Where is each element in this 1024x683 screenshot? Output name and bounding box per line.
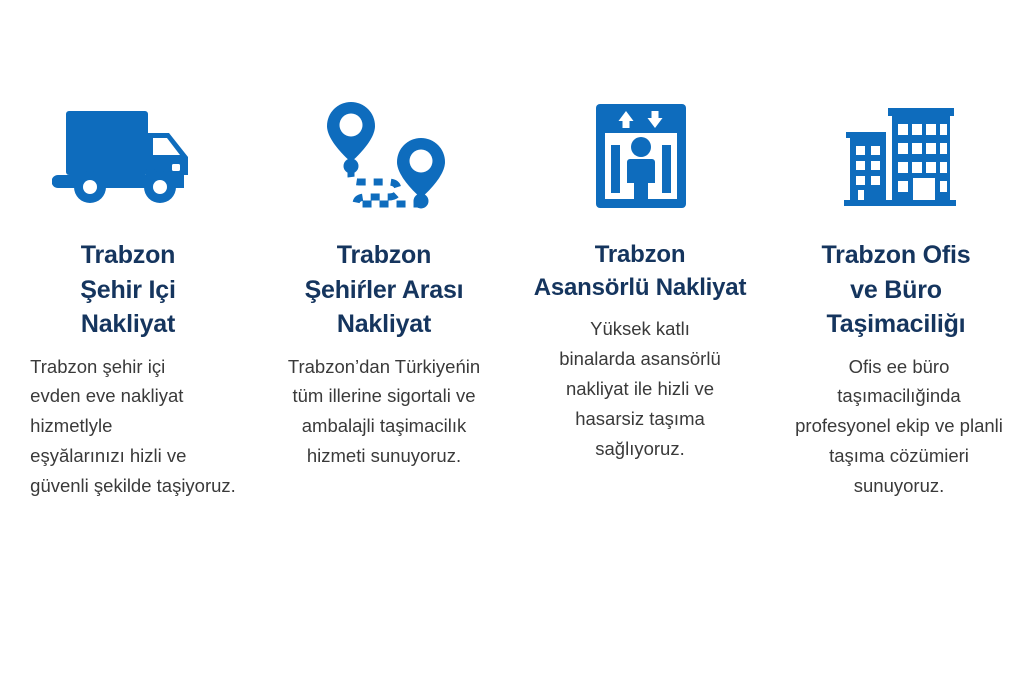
card-description-line: güvenli şekilde taşiyoruz. — [30, 475, 236, 496]
card-description: Ofis ee büro taşımacilığinda profesyonel… — [789, 352, 1003, 502]
card-description-line: Trabzon şehir içi — [30, 356, 165, 377]
card-title-line: Trabzon Ofis — [821, 241, 970, 269]
card-description-line: nakliyat ile hizli ve — [566, 378, 714, 399]
card-title-line: ve Büro — [850, 276, 942, 304]
card-title-line: Trabzon — [81, 241, 175, 269]
card-title: Trabzon Şehiŕler Arası Nakliyat — [301, 238, 468, 342]
card-description-line: Ofis ee büro — [849, 356, 950, 377]
service-card-asansorlu[interactable]: Trabzon Asansörlü Nakliyat Yüksek katlı … — [512, 96, 768, 464]
card-title-line: Trabzon — [595, 241, 686, 268]
card-description-line: profesyonel ekip ve planli — [795, 415, 1003, 436]
card-title-line: Asansörlü Nakliyat — [534, 274, 746, 301]
card-description-line: eşyălarınızı hizli ve — [30, 445, 186, 466]
card-description-line: taşımacilığinda — [837, 385, 960, 406]
card-description-line: hasarsiz taşıma — [575, 408, 705, 429]
card-description-line: hizmeti sunuyoruz. — [307, 445, 461, 466]
card-title-line: Nakliyat — [337, 310, 431, 338]
service-card-sehir-ici[interactable]: Trabzon Şehir Içi Nakliyat Trabzon şehir… — [0, 96, 256, 501]
card-description-line: taşıma cözümieri — [829, 445, 969, 466]
card-title: Trabzon Ofis ve Büro Taşimaciliğı — [817, 238, 974, 342]
card-description-line: evden eve nakliyat — [30, 385, 183, 406]
card-title: Trabzon Şehir Içi Nakliyat — [76, 238, 179, 342]
card-description-line: hizmetlyle — [30, 415, 112, 436]
card-title-line: Şehiŕler Arası — [305, 276, 464, 304]
card-title-line: Şehir Içi — [80, 276, 175, 304]
services-row: Trabzon Şehir Içi Nakliyat Trabzon şehir… — [0, 96, 1024, 501]
elevator-sign-icon — [593, 96, 689, 216]
service-card-sehirler-arasi[interactable]: Trabzon Şehiŕler Arası Nakliyat Trabzon’… — [256, 96, 512, 471]
card-title-line: Taşimaciliğı — [827, 310, 966, 338]
card-title-line: Nakliyat — [81, 310, 175, 338]
card-description-line: binalarda asansörlü — [559, 348, 720, 369]
moving-truck-icon — [52, 96, 190, 216]
card-description-line: tüm illerine sigortali ve — [292, 385, 475, 406]
card-description-line: ambalajli taşimacilık — [302, 415, 467, 436]
route-map-pins-icon — [322, 96, 450, 216]
card-title: Trabzon Asansörlü Nakliyat — [530, 238, 750, 304]
office-buildings-icon — [842, 96, 960, 216]
card-description: Trabzon şehir içi evden eve nakliyat hiz… — [20, 352, 236, 502]
service-card-ofis-buro[interactable]: Trabzon Ofis ve Büro Taşimaciliğı Ofis e… — [768, 96, 1024, 501]
card-description: Trabzon’dan Türkiyeńin tüm illerine sigo… — [282, 352, 486, 472]
card-title-line: Trabzon — [337, 241, 431, 269]
services-board: Trabzon Şehir Içi Nakliyat Trabzon şehir… — [0, 0, 1024, 683]
card-description-line: sağlıyoruz. — [595, 438, 684, 459]
card-description-line: Trabzon’dan Türkiyeńin — [288, 356, 480, 377]
card-description: Yüksek katlı binalarda asansörlü nakliya… — [553, 314, 726, 464]
card-description-line: sunuyoruz. — [854, 475, 945, 496]
card-description-line: Yüksek katlı — [590, 318, 690, 339]
